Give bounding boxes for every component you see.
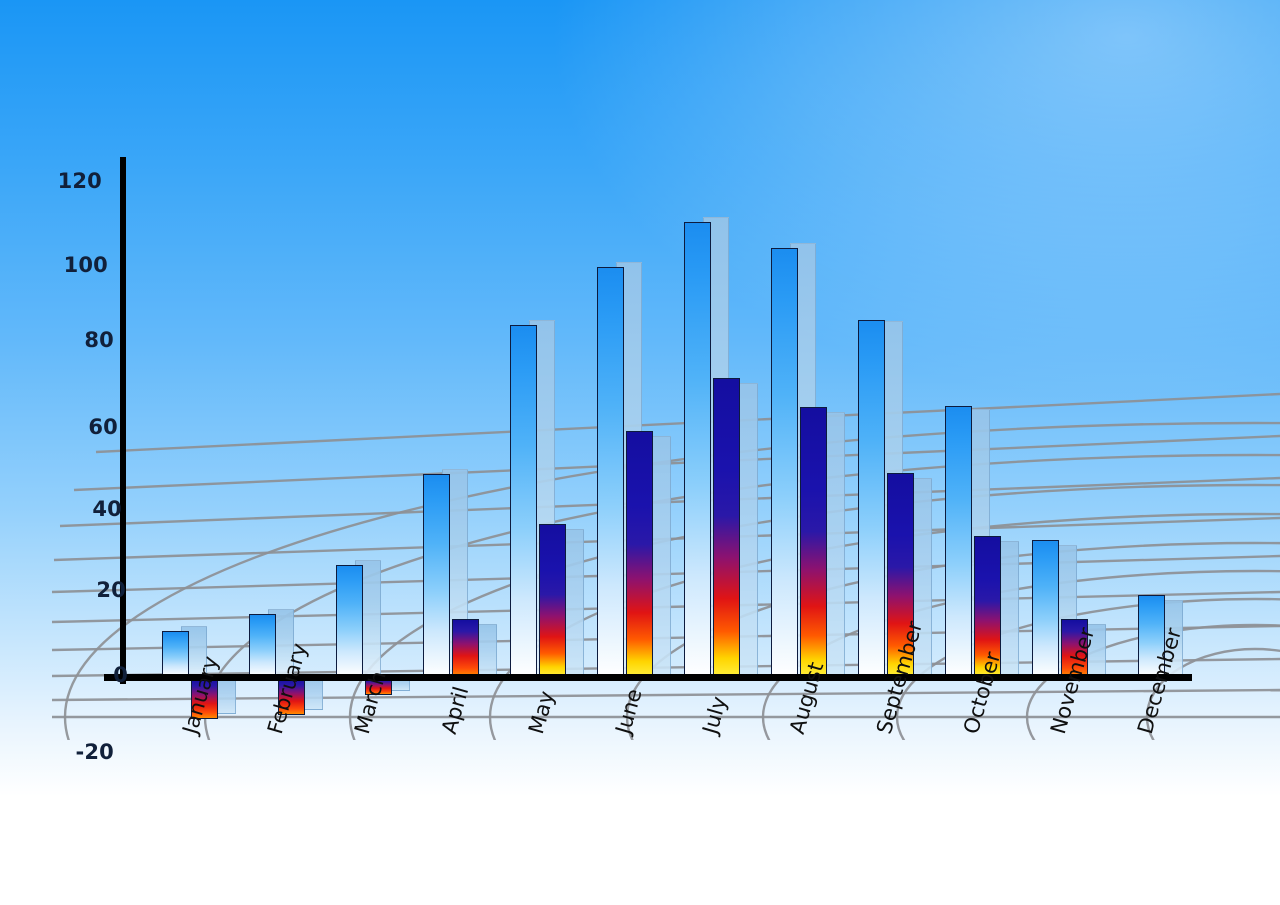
bar-s1-march [336,565,363,677]
bar-s2-may [539,524,566,677]
bar-s2-july [713,378,740,677]
bar-s1-january [162,631,189,677]
bar-s1-august [771,248,798,677]
y-axis-line [120,157,126,684]
chart-canvas: 120 100 80 60 40 20 0 -20 January Februa… [0,0,1280,905]
bar-s1-july [684,222,711,677]
bar-s1-february [249,614,276,677]
bar-s1-november [1032,540,1059,677]
y-tick-label--20: -20 [52,740,114,764]
y-tick-label-120: 120 [40,169,102,193]
y-tick-label-100: 100 [46,253,108,277]
y-tick-label-80: 80 [52,328,114,352]
bar-s2-august [800,407,827,677]
bar-s1-september [858,320,885,677]
y-tick-label-20: 20 [64,578,126,602]
bar-s2-june [626,431,653,677]
x-axis-line [110,674,1192,681]
bar-s1-october [945,406,972,677]
bar-s1-april [423,474,450,677]
y-tick-label-40: 40 [60,497,122,521]
bar-s2-april [452,619,479,677]
y-tick-label-60: 60 [56,415,118,439]
bar-s1-may [510,325,537,677]
bar-s1-june [597,267,624,677]
y-tick-label-0: 0 [66,663,128,687]
